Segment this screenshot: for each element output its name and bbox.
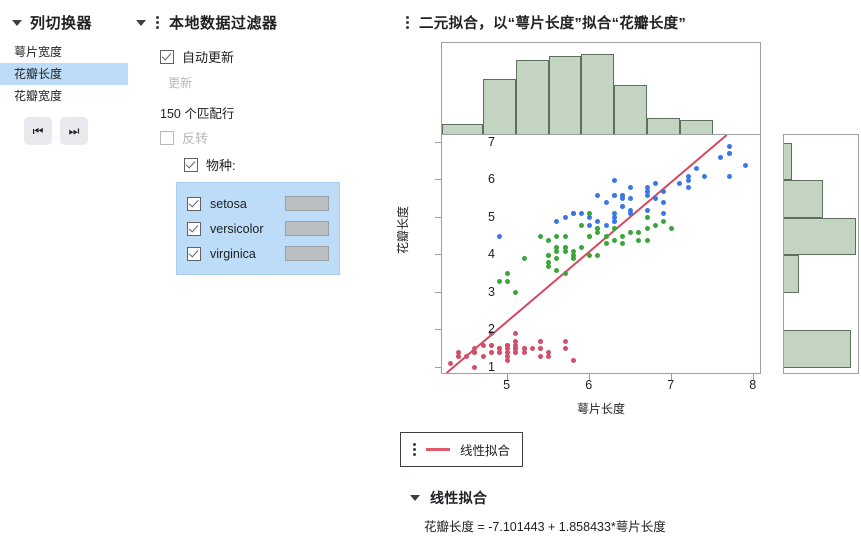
scatter-point <box>505 279 510 284</box>
column-list: 萼片宽度 花瓣长度 花瓣宽度 <box>0 39 128 107</box>
scatter-point <box>489 343 494 348</box>
species-color-swatch-versicolor[interactable] <box>285 221 329 236</box>
x-axis-tick-mark <box>507 374 508 380</box>
species-row-setosa[interactable]: setosa <box>177 191 339 216</box>
invert-label: 反转 <box>182 128 208 147</box>
scatter-point <box>661 189 666 194</box>
scatter-point <box>546 264 551 269</box>
y-axis-tick-label: 4 <box>455 247 495 261</box>
column-nav-buttons: ⏮ ⏭ <box>0 107 128 145</box>
scatter-point <box>563 249 568 254</box>
chart-legend[interactable]: 线性拟合 <box>400 432 523 467</box>
species-name-setosa: setosa <box>210 197 276 211</box>
scatter-point <box>612 178 617 183</box>
scatter-point <box>563 271 568 276</box>
scatter-point <box>579 245 584 250</box>
scatter-point <box>727 151 732 156</box>
x-axis-label: 萼片长度 <box>441 400 761 417</box>
scatter-point <box>546 238 551 243</box>
chart-options-menu-icon[interactable] <box>406 16 409 29</box>
y-axis-tick-mark <box>435 217 441 218</box>
scatter-point <box>522 346 527 351</box>
scatter-point <box>686 185 691 190</box>
linear-fit-title: 线性拟合 <box>430 488 487 508</box>
column-item-petal-length[interactable]: 花瓣长度 <box>0 63 128 85</box>
filter-title: 本地数据过滤器 <box>169 12 278 33</box>
legend-label-linear-fit: 线性拟合 <box>460 440 510 459</box>
top-histogram-bar <box>483 79 516 134</box>
scatter-point <box>587 234 592 239</box>
scatter-point <box>530 346 535 351</box>
linear-fit-equation: 花瓣长度 = -7.101443 + 1.858433*萼片长度 <box>410 508 666 535</box>
scatter-point <box>505 343 510 348</box>
x-axis-tick-label: 7 <box>656 378 686 392</box>
species-group-checkbox[interactable] <box>184 158 198 172</box>
scatter-point <box>587 223 592 228</box>
scatter-point <box>645 226 650 231</box>
scatter-point <box>538 354 543 359</box>
scatter-point <box>481 354 486 359</box>
scatter-point <box>612 238 617 243</box>
scatter-point <box>489 350 494 355</box>
right-histogram-bar <box>784 255 799 293</box>
scatter-point <box>595 253 600 258</box>
scatter-point <box>563 339 568 344</box>
species-checkbox-setosa[interactable] <box>187 197 201 211</box>
top-histogram-bar <box>442 124 483 134</box>
scatter-point <box>628 208 633 213</box>
scatter-point <box>604 234 609 239</box>
scatter-point <box>612 215 617 220</box>
scatter-point <box>653 223 658 228</box>
chart-header[interactable]: 二元拟合，以“萼片长度”拟合“花瓣长度” <box>398 0 861 33</box>
y-axis-tick-mark <box>435 292 441 293</box>
auto-update-row[interactable]: 自动更新 <box>128 43 398 70</box>
x-axis-tick-mark <box>753 374 754 380</box>
top-histogram-bar <box>581 54 614 134</box>
auto-update-checkbox[interactable] <box>160 50 174 64</box>
top-histogram-bar <box>647 118 680 134</box>
y-axis-tick-mark <box>435 367 441 368</box>
column-item-sepal-width[interactable]: 萼片宽度 <box>0 41 128 63</box>
scatter-point <box>563 234 568 239</box>
invert-row[interactable]: 反转 <box>128 124 398 151</box>
match-row-count: 150 个匹配行 <box>128 97 398 124</box>
x-axis-tick-mark <box>671 374 672 380</box>
y-axis-tick-mark <box>435 179 441 180</box>
chevron-down-icon[interactable] <box>12 20 22 26</box>
auto-update-label: 自动更新 <box>182 47 234 66</box>
scatter-point <box>645 189 650 194</box>
column-switcher-header[interactable]: 列切换器 <box>0 0 128 39</box>
scatter-point <box>481 343 486 348</box>
scatter-point <box>645 238 650 243</box>
filter-header[interactable]: 本地数据过滤器 <box>128 0 398 43</box>
linear-fit-section: 线性拟合 花瓣长度 = -7.101443 + 1.858433*萼片长度 <box>410 488 666 535</box>
y-axis-tick-label: 7 <box>455 135 495 149</box>
update-button[interactable]: 更新 <box>128 70 398 97</box>
scatter-point <box>522 256 527 261</box>
top-histogram-bar <box>549 56 582 134</box>
right-histogram-bar <box>784 330 851 368</box>
column-switcher-title: 列切换器 <box>30 12 92 33</box>
scatter-point <box>612 193 617 198</box>
species-color-swatch-setosa[interactable] <box>285 196 329 211</box>
scatter-point <box>702 174 707 179</box>
x-axis-tick-mark <box>589 374 590 380</box>
y-axis-tick-label: 5 <box>455 210 495 224</box>
local-data-filter-panel: 本地数据过滤器 自动更新 更新 150 个匹配行 反转 物种: setosa v… <box>128 0 398 275</box>
scatter-point <box>661 219 666 224</box>
scatter-point <box>645 208 650 213</box>
column-item-petal-width[interactable]: 花瓣宽度 <box>0 85 128 107</box>
species-group-label: 物种: <box>206 155 236 174</box>
right-marginal-histogram <box>783 134 859 374</box>
chevron-down-icon[interactable] <box>410 495 420 501</box>
scatter-point <box>464 354 469 359</box>
right-histogram-bar <box>784 180 823 218</box>
scatter-point <box>538 339 543 344</box>
scatter-point <box>595 193 600 198</box>
scatter-point <box>546 354 551 359</box>
top-marginal-histogram <box>441 42 761 135</box>
scatter-point <box>538 234 543 239</box>
scatter-point <box>727 174 732 179</box>
scatter-point <box>743 163 748 168</box>
scatter-point <box>571 358 576 363</box>
scatter-point <box>497 279 502 284</box>
y-axis-tick-label: 2 <box>455 322 495 336</box>
scatter-point <box>497 234 502 239</box>
species-row-versicolor[interactable]: versicolor <box>177 216 339 241</box>
y-axis-tick-label: 1 <box>455 360 495 374</box>
plot-area: 12345675678 花瓣长度 萼片长度 <box>398 38 861 383</box>
scatter-point <box>686 178 691 183</box>
species-name-virginica: virginica <box>210 247 276 261</box>
chevron-down-icon[interactable] <box>136 20 146 26</box>
chart-panel: 二元拟合，以“萼片长度”拟合“花瓣长度” 12345675678 花瓣长度 萼片… <box>398 0 861 536</box>
species-list: setosa versicolor virginica <box>176 182 340 275</box>
x-axis-tick-label: 6 <box>574 378 604 392</box>
species-row-virginica[interactable]: virginica <box>177 241 339 266</box>
y-axis-tick-label: 6 <box>455 172 495 186</box>
x-axis-tick-label: 8 <box>738 378 768 392</box>
species-color-swatch-virginica[interactable] <box>285 246 329 261</box>
right-histogram-bar <box>784 143 792 181</box>
species-name-versicolor: versicolor <box>210 222 276 236</box>
previous-column-button[interactable]: ⏮ <box>24 117 52 145</box>
top-histogram-bar <box>680 120 713 134</box>
scatter-point <box>661 200 666 205</box>
legend-options-menu-icon[interactable] <box>413 443 416 456</box>
species-checkbox-versicolor[interactable] <box>187 222 201 236</box>
filter-options-menu-icon[interactable] <box>156 16 159 29</box>
scatter-point <box>563 346 568 351</box>
species-group-row[interactable]: 物种: <box>128 151 398 178</box>
scatter-point <box>645 215 650 220</box>
scatter-point <box>587 253 592 258</box>
scatter-point <box>563 215 568 220</box>
scatter-point <box>513 343 518 348</box>
scatter-point <box>579 223 584 228</box>
top-histogram-bar <box>516 60 549 134</box>
y-axis-label: 花瓣长度 <box>394 206 411 254</box>
linear-fit-header[interactable]: 线性拟合 <box>410 488 666 508</box>
scatter-point <box>497 350 502 355</box>
invert-checkbox[interactable] <box>160 131 174 145</box>
scatter-point <box>620 234 625 239</box>
y-axis-tick-mark <box>435 254 441 255</box>
scatter-point <box>604 241 609 246</box>
scatter-point <box>604 200 609 205</box>
y-axis-tick-mark <box>435 329 441 330</box>
x-axis-tick-label: 5 <box>492 378 522 392</box>
top-histogram-bar <box>614 85 647 134</box>
scatter-point <box>571 253 576 258</box>
scatter-point <box>604 223 609 228</box>
next-column-button[interactable]: ⏭ <box>60 117 88 145</box>
right-histogram-bar <box>784 218 856 256</box>
scatter-point <box>554 268 559 273</box>
species-checkbox-virginica[interactable] <box>187 247 201 261</box>
chart-title: 二元拟合，以“萼片长度”拟合“花瓣长度” <box>419 12 686 33</box>
scatter-point <box>727 144 732 149</box>
top-histogram-bars <box>442 43 760 134</box>
y-axis-tick-label: 3 <box>455 285 495 299</box>
scatter-point <box>456 354 461 359</box>
app-root: 列切换器 萼片宽度 花瓣长度 花瓣宽度 ⏮ ⏭ 本地数据过滤器 自动更新 更新 … <box>0 0 861 536</box>
legend-line-swatch <box>426 448 450 451</box>
column-switcher-panel: 列切换器 萼片宽度 花瓣长度 花瓣宽度 ⏮ ⏭ <box>0 0 128 145</box>
scatter-point <box>448 361 453 366</box>
scatter-point <box>546 253 551 258</box>
y-axis-tick-mark <box>435 142 441 143</box>
scatter-point <box>620 204 625 209</box>
